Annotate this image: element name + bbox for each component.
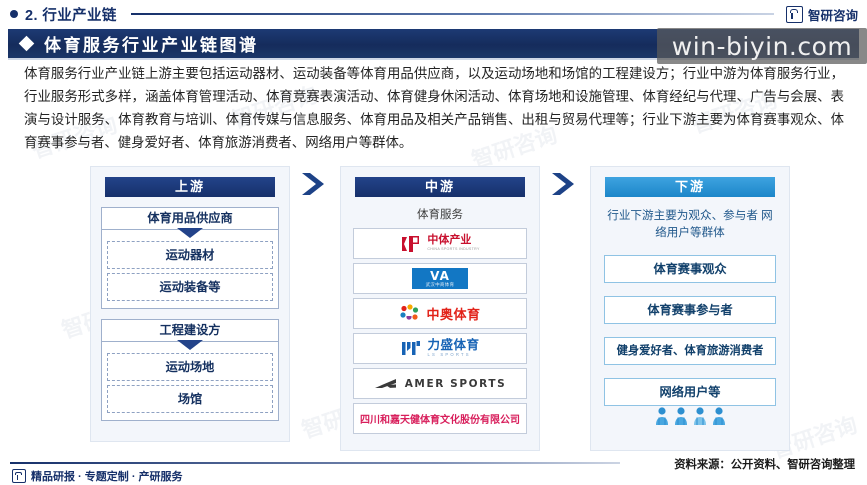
person-icon (710, 406, 728, 426)
midstream-company-name: 武汉中商体育 (426, 283, 455, 287)
down-arrow-icon (177, 340, 203, 350)
footer-divider-line (10, 462, 620, 464)
banner-title: 体育服务行业产业链图谱 (44, 31, 259, 56)
midstream-company-logo: 力盛体育 LS SPORTS (353, 333, 527, 364)
midstream-company-name: 中奥体育 (426, 304, 480, 323)
source-note: 资料来源：公开资料、智研咨询整理 (674, 456, 855, 472)
slide-header-row: 2. 行业产业链 智研咨询 (0, 3, 867, 25)
upstream-group-1-title-text: 体育用品供应商 (147, 211, 232, 225)
upstream-item: 场馆 (107, 385, 273, 413)
midstream-column: 中游 体育服务 中体产业 CHINA SPORTS INDUSTRY (340, 166, 540, 451)
upstream-group-1: 体育用品供应商 运动器材 运动装备等 (101, 207, 279, 309)
midstream-company-logo: AMER SPORTS (353, 368, 527, 399)
header-divider-line (131, 13, 774, 15)
midstream-company-logo: 中体产业 CHINA SPORTS INDUSTRY (353, 228, 527, 259)
midstream-company-name: AMER SPORTS (405, 378, 507, 390)
down-arrow-icon (177, 228, 203, 238)
midstream-company-logo: 四川和嘉天健体育文化股份有限公司 (353, 403, 527, 434)
bullet-dot-icon (10, 10, 18, 18)
downstream-header: 下游 (605, 177, 775, 197)
arrow-gap-2 (540, 166, 590, 442)
midstream-company-name: 中体产业 (427, 235, 479, 246)
industry-chain-diagram: 上游 体育用品供应商 运动器材 运动装备等 工程建设方 运动场地 (90, 166, 790, 451)
chevron-right-icon (550, 172, 580, 196)
downstream-item: 体育赛事观众 (604, 255, 776, 283)
brand-name: 智研咨询 (808, 5, 858, 24)
brand-logo: 智研咨询 (786, 5, 858, 24)
person-icon (672, 406, 690, 426)
footer-slogan: 精品研报 · 专题定制 · 产研服务 (31, 468, 183, 484)
slide-page: 2. 行业产业链 智研咨询 体育服务行业产业链图谱 体育服务行业产业链上游主要包… (0, 0, 867, 485)
midstream-company-subname: LS SPORTS (427, 353, 479, 357)
diamond-icon (19, 36, 35, 52)
upstream-item: 运动装备等 (107, 273, 273, 301)
person-icon (691, 406, 709, 426)
midstream-company-subname: VA (430, 270, 450, 282)
downstream-column: 下游 行业下游主要为观众、参与者 网络用户等群体 体育赛事观众 体育赛事参与者 … (590, 166, 790, 451)
midstream-header: 中游 (355, 177, 525, 197)
arrow-gap-1 (290, 166, 340, 442)
zhiyan-logo-icon (12, 469, 26, 483)
zhiyan-logo-icon (786, 6, 803, 23)
downstream-description: 行业下游主要为观众、参与者 网络用户等群体 (607, 207, 773, 241)
lisheng-mark-icon (400, 339, 422, 358)
zhongti-mark-icon (400, 234, 422, 254)
upstream-item: 运动场地 (107, 353, 273, 381)
watermark-overlay: win-biyin.com (657, 28, 867, 64)
downstream-item: 体育赛事参与者 (604, 296, 776, 324)
midstream-company-logo: 中奥体育 (353, 298, 527, 329)
footer-brand: 精品研报 · 专题定制 · 产研服务 (12, 468, 183, 484)
person-icon (653, 406, 671, 426)
upstream-group-2: 工程建设方 运动场地 场馆 (101, 319, 279, 421)
midstream-subtitle: 体育服务 (351, 206, 529, 222)
upstream-group-2-title-text: 工程建设方 (160, 323, 221, 337)
chevron-right-icon (300, 172, 330, 196)
upstream-group-1-title: 体育用品供应商 (102, 208, 278, 230)
midstream-company-name: 力盛体育 (427, 339, 479, 352)
midstream-company-logo: VA 武汉中商体育 (353, 263, 527, 294)
zhongao-mark-icon (399, 304, 421, 324)
midstream-company-name: 四川和嘉天健体育文化股份有限公司 (360, 411, 520, 426)
downstream-item: 健身爱好者、体育旅游消费者 (604, 337, 776, 365)
section-title: 2. 行业产业链 (25, 4, 117, 25)
amer-sports-mark-icon (374, 377, 400, 391)
people-icons-group (601, 406, 779, 426)
upstream-column: 上游 体育用品供应商 运动器材 运动装备等 工程建设方 运动场地 (90, 166, 290, 442)
intro-paragraph: 体育服务行业产业链上游主要包括运动器材、运动装备等体育用品供应商，以及运动场地和… (24, 63, 844, 155)
downstream-item: 网络用户等 (604, 378, 776, 406)
watermark-overlay-text: win-biyin.com (672, 32, 853, 61)
upstream-group-2-title: 工程建设方 (102, 320, 278, 342)
upstream-item: 运动器材 (107, 241, 273, 269)
midstream-company-subname: CHINA SPORTS INDUSTRY (427, 248, 479, 252)
upstream-header: 上游 (105, 177, 275, 197)
